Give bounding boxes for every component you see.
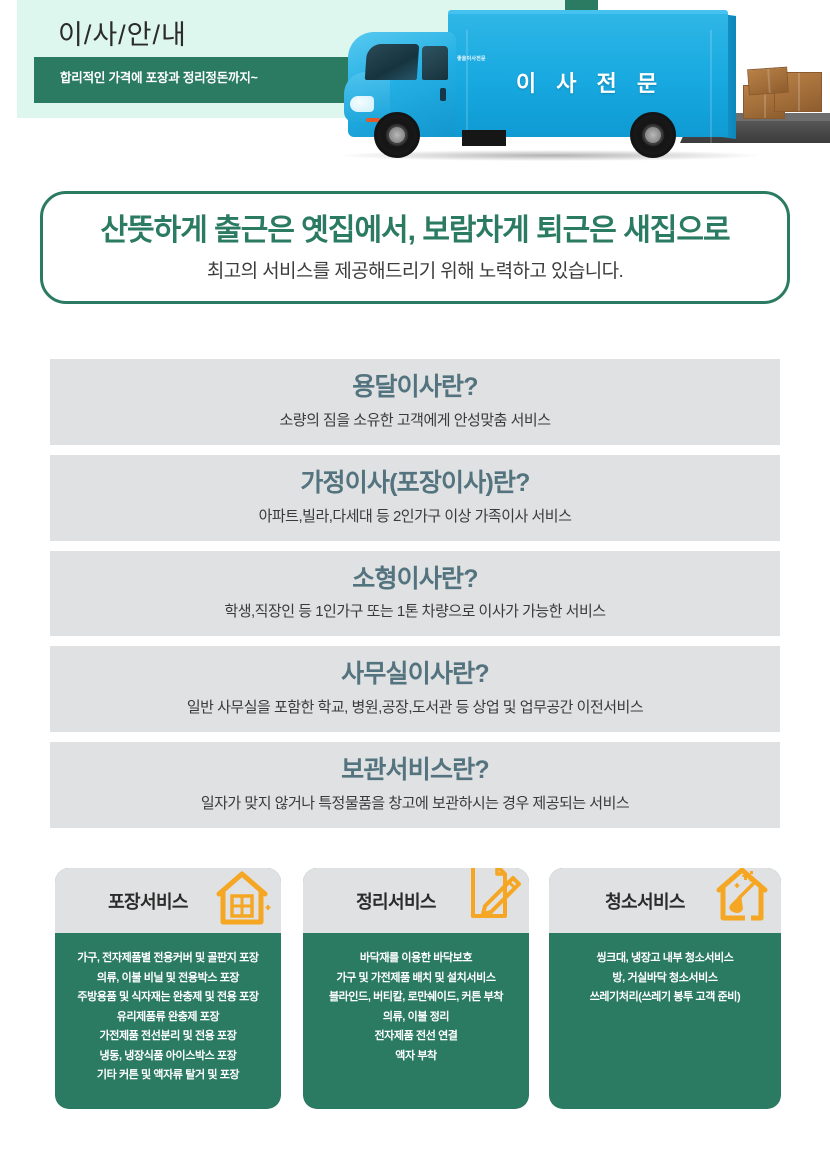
card-line: 가구 및 가전제품 배치 및 설치서비스 [311,969,521,989]
hero-banner: 이/사/안/내 합리적인 가격에 포장과 정리정돈까지~ 좋을이사전문 이 사 … [0,0,830,178]
card-header: 정리서비스 [303,868,529,933]
card-line: 주방용품 및 식자재는 완충제 및 전용 포장 [63,988,273,1008]
definition-title: 소형이사란? [60,565,770,594]
document-pencil-icon [459,868,521,932]
box-rib [710,30,712,148]
definition-description: 학생,직장인 등 1인가구 또는 1톤 차량으로 이사가 가능한 서비스 [60,600,770,621]
truck-windshield [365,44,420,80]
definition-item[interactable]: 보관서비스란? 일자가 맞지 않거나 특정물품을 창고에 보관하시는 경우 제공… [50,742,780,828]
truck-headlight [350,96,374,112]
card-line: 바닥재를 이용한 바닥보호 [311,949,521,969]
definition-item[interactable]: 가정이사(포장이사)란? 아파트,빌라,다세대 등 2인가구 이상 가족이사 서… [50,455,780,541]
house-window-icon [211,868,273,932]
card-line: 전자제품 전선 연결 [311,1027,521,1047]
card-title: 포장서비스 [108,888,188,914]
service-definition-list: 용달이사란? 소량의 짐을 소유한 고객에게 안성맞춤 서비스 가정이사(포장이… [50,359,780,838]
definition-description: 아파트,빌라,다세대 등 2인가구 이상 가족이사 서비스 [60,505,770,526]
card-header: 청소서비스 [549,868,781,933]
definition-title: 보관서비스란? [60,756,770,785]
definition-title: 가정이사(포장이사)란? [60,469,770,498]
definition-description: 소량의 짐을 소유한 고객에게 안성맞춤 서비스 [60,409,770,430]
page-title: 이/사/안/내 [58,22,187,49]
truck-side-window [422,46,448,80]
definition-description: 일반 사무실을 포함한 학교, 병원,공장,도서관 등 상업 및 업무공간 이전… [60,696,770,717]
card-line: 의류, 이불 비닐 및 전용박스 포장 [63,969,273,989]
headline-main-text: 산뜻하게 출근은 옛집에서, 보람차게 퇴근은 새집으로 [100,213,729,249]
card-line: 블라인드, 버티칼, 로만쉐이드, 커튼 부착 [311,988,521,1008]
card-line: 의류, 이불 정리 [311,1008,521,1028]
card-title: 정리서비스 [356,888,436,914]
house-broom-icon [711,868,773,932]
headline-card: 산뜻하게 출근은 옛집에서, 보람차게 퇴근은 새집으로 최고의 서비스를 제공… [40,191,790,304]
definition-item[interactable]: 소형이사란? 학생,직장인 등 1인가구 또는 1톤 차량으로 이사가 가능한 … [50,551,780,637]
definition-title: 용달이사란? [60,373,770,402]
card-line: 방, 거실바닥 청소서비스 [557,969,773,989]
truck-side-label: 이 사 전 문 [500,66,680,98]
service-card-packing[interactable]: 포장서비스 가구, 전자제품별 전용커버 및 골판지 포장 의류, 이불 비닐 … [55,868,281,1109]
service-card-organizing[interactable]: 정리서비스 바닥재를 이용한 바닥보호 가구 및 가전제품 배치 및 설치서비스… [303,868,529,1109]
card-line: 가전제품 전선분리 및 전용 포장 [63,1027,273,1047]
headline-sub-text: 최고의 서비스를 제공해드리기 위해 노력하고 있습니다. [207,256,623,283]
card-title: 청소서비스 [605,888,685,914]
truck-rear-wheel [630,112,676,158]
truck-door-handle [440,88,446,101]
hero-subtitle: 합리적인 가격에 포장과 정리정돈까지~ [60,67,258,86]
card-header: 포장서비스 [55,868,281,933]
cardboard-box [747,67,789,96]
card-line: 가구, 전자제품별 전용커버 및 골판지 포장 [63,949,273,969]
card-line: 냉동, 냉장식품 아이스박스 포장 [63,1047,273,1067]
card-body: 가구, 전자제품별 전용커버 및 골판지 포장 의류, 이불 비닐 및 전용박스… [55,933,281,1086]
truck-company-logo: 좋을이사전문 [457,55,486,62]
service-card-cleaning[interactable]: 청소서비스 [549,868,781,1109]
service-cards: 포장서비스 가구, 전자제품별 전용커버 및 골판지 포장 의류, 이불 비닐 … [0,868,830,1118]
card-line: 액자 부착 [311,1047,521,1067]
card-line: 씽크대, 냉장고 내부 청소서비스 [557,949,773,969]
card-body: 씽크대, 냉장고 내부 청소서비스 방, 거실바닥 청소서비스 쓰레기처리(쓰레… [549,933,781,1008]
truck-front-wheel [374,112,420,158]
card-line: 유리제품류 완충제 포장 [63,1008,273,1028]
card-line: 쓰레기처리(쓰레기 봉투 고객 준비) [557,988,773,1008]
definition-item[interactable]: 용달이사란? 소량의 짐을 소유한 고객에게 안성맞춤 서비스 [50,359,780,445]
definition-item[interactable]: 사무실이사란? 일반 사무실을 포함한 학교, 병원,공장,도서관 등 상업 및… [50,646,780,732]
definition-description: 일자가 맞지 않거나 특정물품을 창고에 보관하시는 경우 제공되는 서비스 [60,792,770,813]
moving-truck-illustration: 좋을이사전문 이 사 전 문 [330,0,830,178]
card-body: 바닥재를 이용한 바닥보호 가구 및 가전제품 배치 및 설치서비스 블라인드,… [303,933,529,1066]
card-line: 기타 커튼 및 액자류 탈거 및 포장 [63,1066,273,1086]
truck-mudflap [462,130,506,146]
definition-title: 사무실이사란? [60,660,770,689]
